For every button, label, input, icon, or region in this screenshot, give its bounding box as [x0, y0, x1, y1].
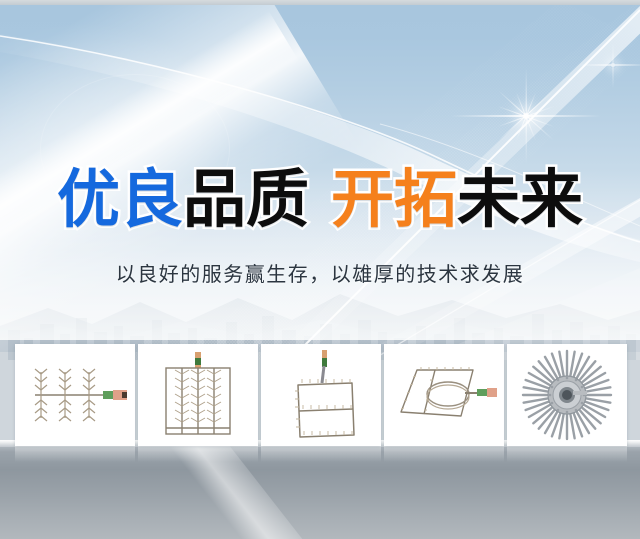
headline-part-black-1: 品质 — [183, 161, 309, 239]
page-title: 优良品质开拓未来 — [0, 161, 640, 239]
triple-row-comb-anchor-icon — [21, 356, 129, 434]
product-card[interactable] — [138, 344, 258, 446]
card-reflection — [15, 446, 135, 462]
ladder-frame-anchor-icon — [278, 349, 364, 441]
top-edge-strip — [0, 0, 640, 5]
headline-part-black-2: 未来 — [457, 161, 583, 239]
product-card[interactable] — [261, 344, 381, 446]
star-burst-anchor-icon — [521, 349, 613, 441]
product-thumbnail-strip — [15, 344, 627, 446]
card-reflections — [15, 446, 627, 462]
page-subtitle: 以良好的服务赢生存，以雄厚的技术求发展 — [0, 259, 640, 289]
ring-plate-anchor-icon — [391, 360, 497, 430]
card-reflection — [384, 446, 504, 462]
card-reflection — [138, 446, 258, 462]
product-card[interactable] — [507, 344, 627, 446]
product-card[interactable] — [384, 344, 504, 446]
product-card[interactable] — [15, 344, 135, 446]
headline-part-blue: 优良 — [57, 161, 183, 239]
card-reflection — [507, 446, 627, 462]
headline-part-orange: 开拓 — [331, 161, 457, 239]
spike-frame-anchor-icon — [152, 350, 244, 440]
hero-banner: 优良品质开拓未来 以良好的服务赢生存，以雄厚的技术求发展 — [0, 0, 640, 539]
card-reflection — [261, 446, 381, 462]
